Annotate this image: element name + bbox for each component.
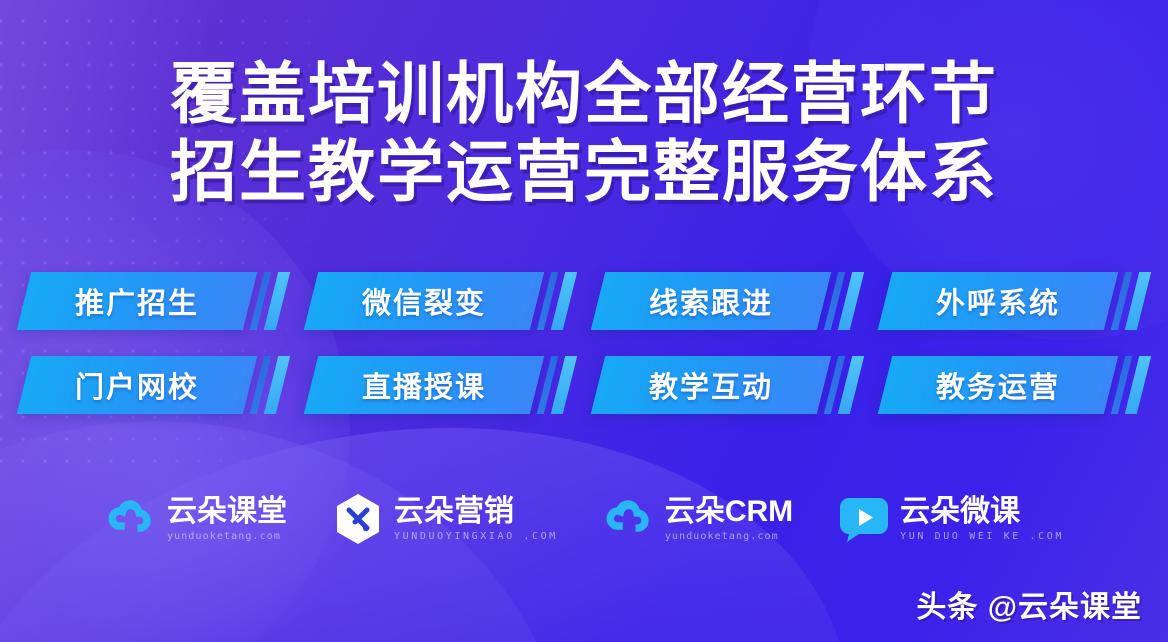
- feature-tag-label: 教学互动: [649, 364, 773, 406]
- feature-tag[interactable]: 教务运营: [885, 356, 1144, 414]
- cloud-icon: [104, 492, 158, 546]
- feature-tag[interactable]: 门户网校: [24, 356, 283, 414]
- logo-text-block: 云朵CRM yunduoketang.com: [665, 497, 793, 542]
- feature-tag-label: 线索跟进: [649, 280, 773, 322]
- promo-banner: 覆盖培训机构全部经营环节 招生教学运营完整服务体系 推广招生 微信裂变: [0, 0, 1168, 642]
- logo-text-block: 云朵微课 YUN DUO WEI KE .COM: [900, 497, 1064, 542]
- feature-tag-chip[interactable]: 直播授课: [304, 356, 544, 414]
- feature-tag-row-2: 门户网校 直播授课 教学互动: [0, 356, 1168, 414]
- logo-text-block: 云朵营销 YUNDUOYINGXIAO .COM: [394, 497, 558, 542]
- cloud-icon: [602, 492, 656, 546]
- logo-yunduoyingxiao[interactable]: 云朵营销 YUNDUOYINGXIAO .COM: [331, 492, 558, 546]
- headline-line-1: 覆盖培训机构全部经营环节: [0, 56, 1168, 134]
- logo-title: 云朵CRM: [665, 497, 793, 527]
- logo-title: 云朵微课: [900, 497, 1064, 527]
- feature-tag[interactable]: 线索跟进: [598, 272, 857, 330]
- watermark-toutiao: 头条 @云朵课堂: [916, 582, 1142, 626]
- headline-block: 覆盖培训机构全部经营环节 招生教学运营完整服务体系: [0, 56, 1168, 213]
- feature-tag[interactable]: 微信裂变: [311, 272, 570, 330]
- logo-yunduoketang[interactable]: 云朵课堂 yunduoketang.com: [104, 492, 287, 546]
- partner-logo-strip: 云朵课堂 yunduoketang.com 云朵营销 YUNDUOYINGXIA…: [0, 492, 1168, 546]
- feature-tag-chip[interactable]: 教务运营: [878, 356, 1118, 414]
- banner-content: 覆盖培训机构全部经营环节 招生教学运营完整服务体系 推广招生 微信裂变: [0, 0, 1168, 642]
- feature-tag-chip[interactable]: 教学互动: [591, 356, 831, 414]
- feature-tag-chip[interactable]: 线索跟进: [591, 272, 831, 330]
- feature-tag-chip[interactable]: 外呼系统: [878, 272, 1118, 330]
- feature-tag-label: 微信裂变: [362, 280, 486, 322]
- feature-tag-chip[interactable]: 门户网校: [17, 356, 257, 414]
- feature-tag[interactable]: 教学互动: [598, 356, 857, 414]
- logo-title: 云朵营销: [394, 497, 558, 527]
- feature-tag[interactable]: 推广招生: [24, 272, 283, 330]
- logo-yunduoweike[interactable]: 云朵微课 YUN DUO WEI KE .COM: [837, 492, 1064, 546]
- hexagon-x-icon: [331, 492, 385, 546]
- logo-yunduocrm[interactable]: 云朵CRM yunduoketang.com: [602, 492, 793, 546]
- feature-tag-label: 外呼系统: [936, 280, 1060, 322]
- feature-tag-label: 直播授课: [362, 364, 486, 406]
- headline-line-2: 招生教学运营完整服务体系: [0, 134, 1168, 212]
- feature-tag[interactable]: 直播授课: [311, 356, 570, 414]
- logo-text-block: 云朵课堂 yunduoketang.com: [167, 497, 287, 542]
- feature-tag-label: 门户网校: [75, 364, 199, 406]
- feature-tag-label: 推广招生: [75, 280, 199, 322]
- feature-tag-label: 教务运营: [936, 364, 1060, 406]
- feature-tag[interactable]: 外呼系统: [885, 272, 1144, 330]
- feature-tag-rows: 推广招生 微信裂变 线索跟进: [0, 272, 1168, 440]
- play-bubble-icon: [837, 492, 891, 546]
- logo-subtitle: YUNDUOYINGXIAO .COM: [394, 532, 558, 542]
- logo-subtitle: yunduoketang.com: [167, 532, 287, 542]
- feature-tag-row-1: 推广招生 微信裂变 线索跟进: [0, 272, 1168, 330]
- logo-subtitle: YUN DUO WEI KE .COM: [900, 532, 1064, 542]
- logo-title: 云朵课堂: [167, 497, 287, 527]
- feature-tag-chip[interactable]: 微信裂变: [304, 272, 544, 330]
- logo-subtitle: yunduoketang.com: [665, 532, 793, 542]
- feature-tag-chip[interactable]: 推广招生: [17, 272, 257, 330]
